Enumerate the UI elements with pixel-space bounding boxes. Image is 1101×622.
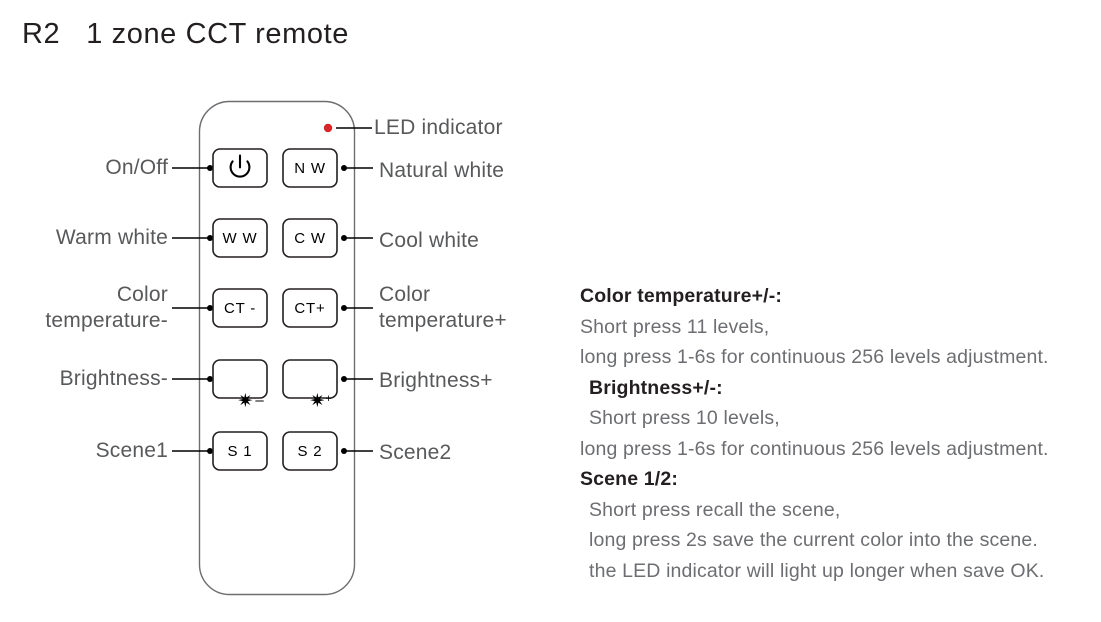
instruction-line: Scene 1/2:	[580, 464, 1080, 495]
sun-icon: ✷	[309, 391, 325, 412]
remote-diagram-page: R2 1 zone CCT remote	[0, 0, 1101, 622]
instruction-line: Brightness+/-:	[580, 373, 1080, 404]
button-label-natural-white: N W	[283, 160, 337, 177]
callout-natural-white: Natural white	[379, 158, 609, 184]
callout-on-off: On/Off	[0, 155, 168, 181]
button-label-scene-1: S 1	[213, 443, 267, 460]
instructions-block: Color temperature+/-: Short press 11 lev…	[580, 281, 1080, 586]
callout-brightness-plus: Brightness+	[379, 368, 609, 394]
button-label-cool-white: C W	[283, 230, 337, 247]
instruction-line: long press 1-6s for continuous 256 level…	[580, 434, 1080, 465]
button-label-ct-plus: CT+	[283, 300, 337, 317]
plus-sign: +	[325, 393, 331, 405]
callout-brightness-minus: Brightness-	[0, 366, 168, 392]
button-label-warm-white: W W	[213, 230, 267, 247]
button-label-brightness-down: ✷–	[213, 368, 267, 435]
instruction-line: Color temperature+/-:	[580, 281, 1080, 312]
instruction-line: the LED indicator will light up longer w…	[580, 556, 1080, 587]
button-label-ct-minus: CT -	[213, 300, 267, 317]
sun-icon: ✷	[237, 391, 253, 412]
button-label-scene-2: S 2	[283, 443, 337, 460]
callout-scene-2: Scene2	[379, 440, 609, 466]
instruction-line: Short press 10 levels,	[580, 403, 1080, 434]
callout-warm-white: Warm white	[0, 225, 168, 251]
callout-color-temperature-minus: Color temperature-	[0, 282, 168, 334]
callout-scene-1: Scene1	[0, 438, 168, 464]
instruction-line: Short press 11 levels,	[580, 312, 1080, 343]
minus-sign: –	[255, 392, 263, 409]
led-indicator-dot	[324, 124, 332, 132]
callout-cool-white: Cool white	[379, 228, 609, 254]
callout-led-indicator: LED indicator	[374, 115, 604, 141]
instruction-line: Short press recall the scene,	[580, 495, 1080, 526]
callout-color-temperature-plus: Color temperature+	[379, 282, 609, 334]
instruction-line: long press 2s save the current color int…	[580, 525, 1080, 556]
instruction-line: long press 1-6s for continuous 256 level…	[580, 342, 1080, 373]
button-label-brightness-up: ✷+	[283, 368, 337, 435]
